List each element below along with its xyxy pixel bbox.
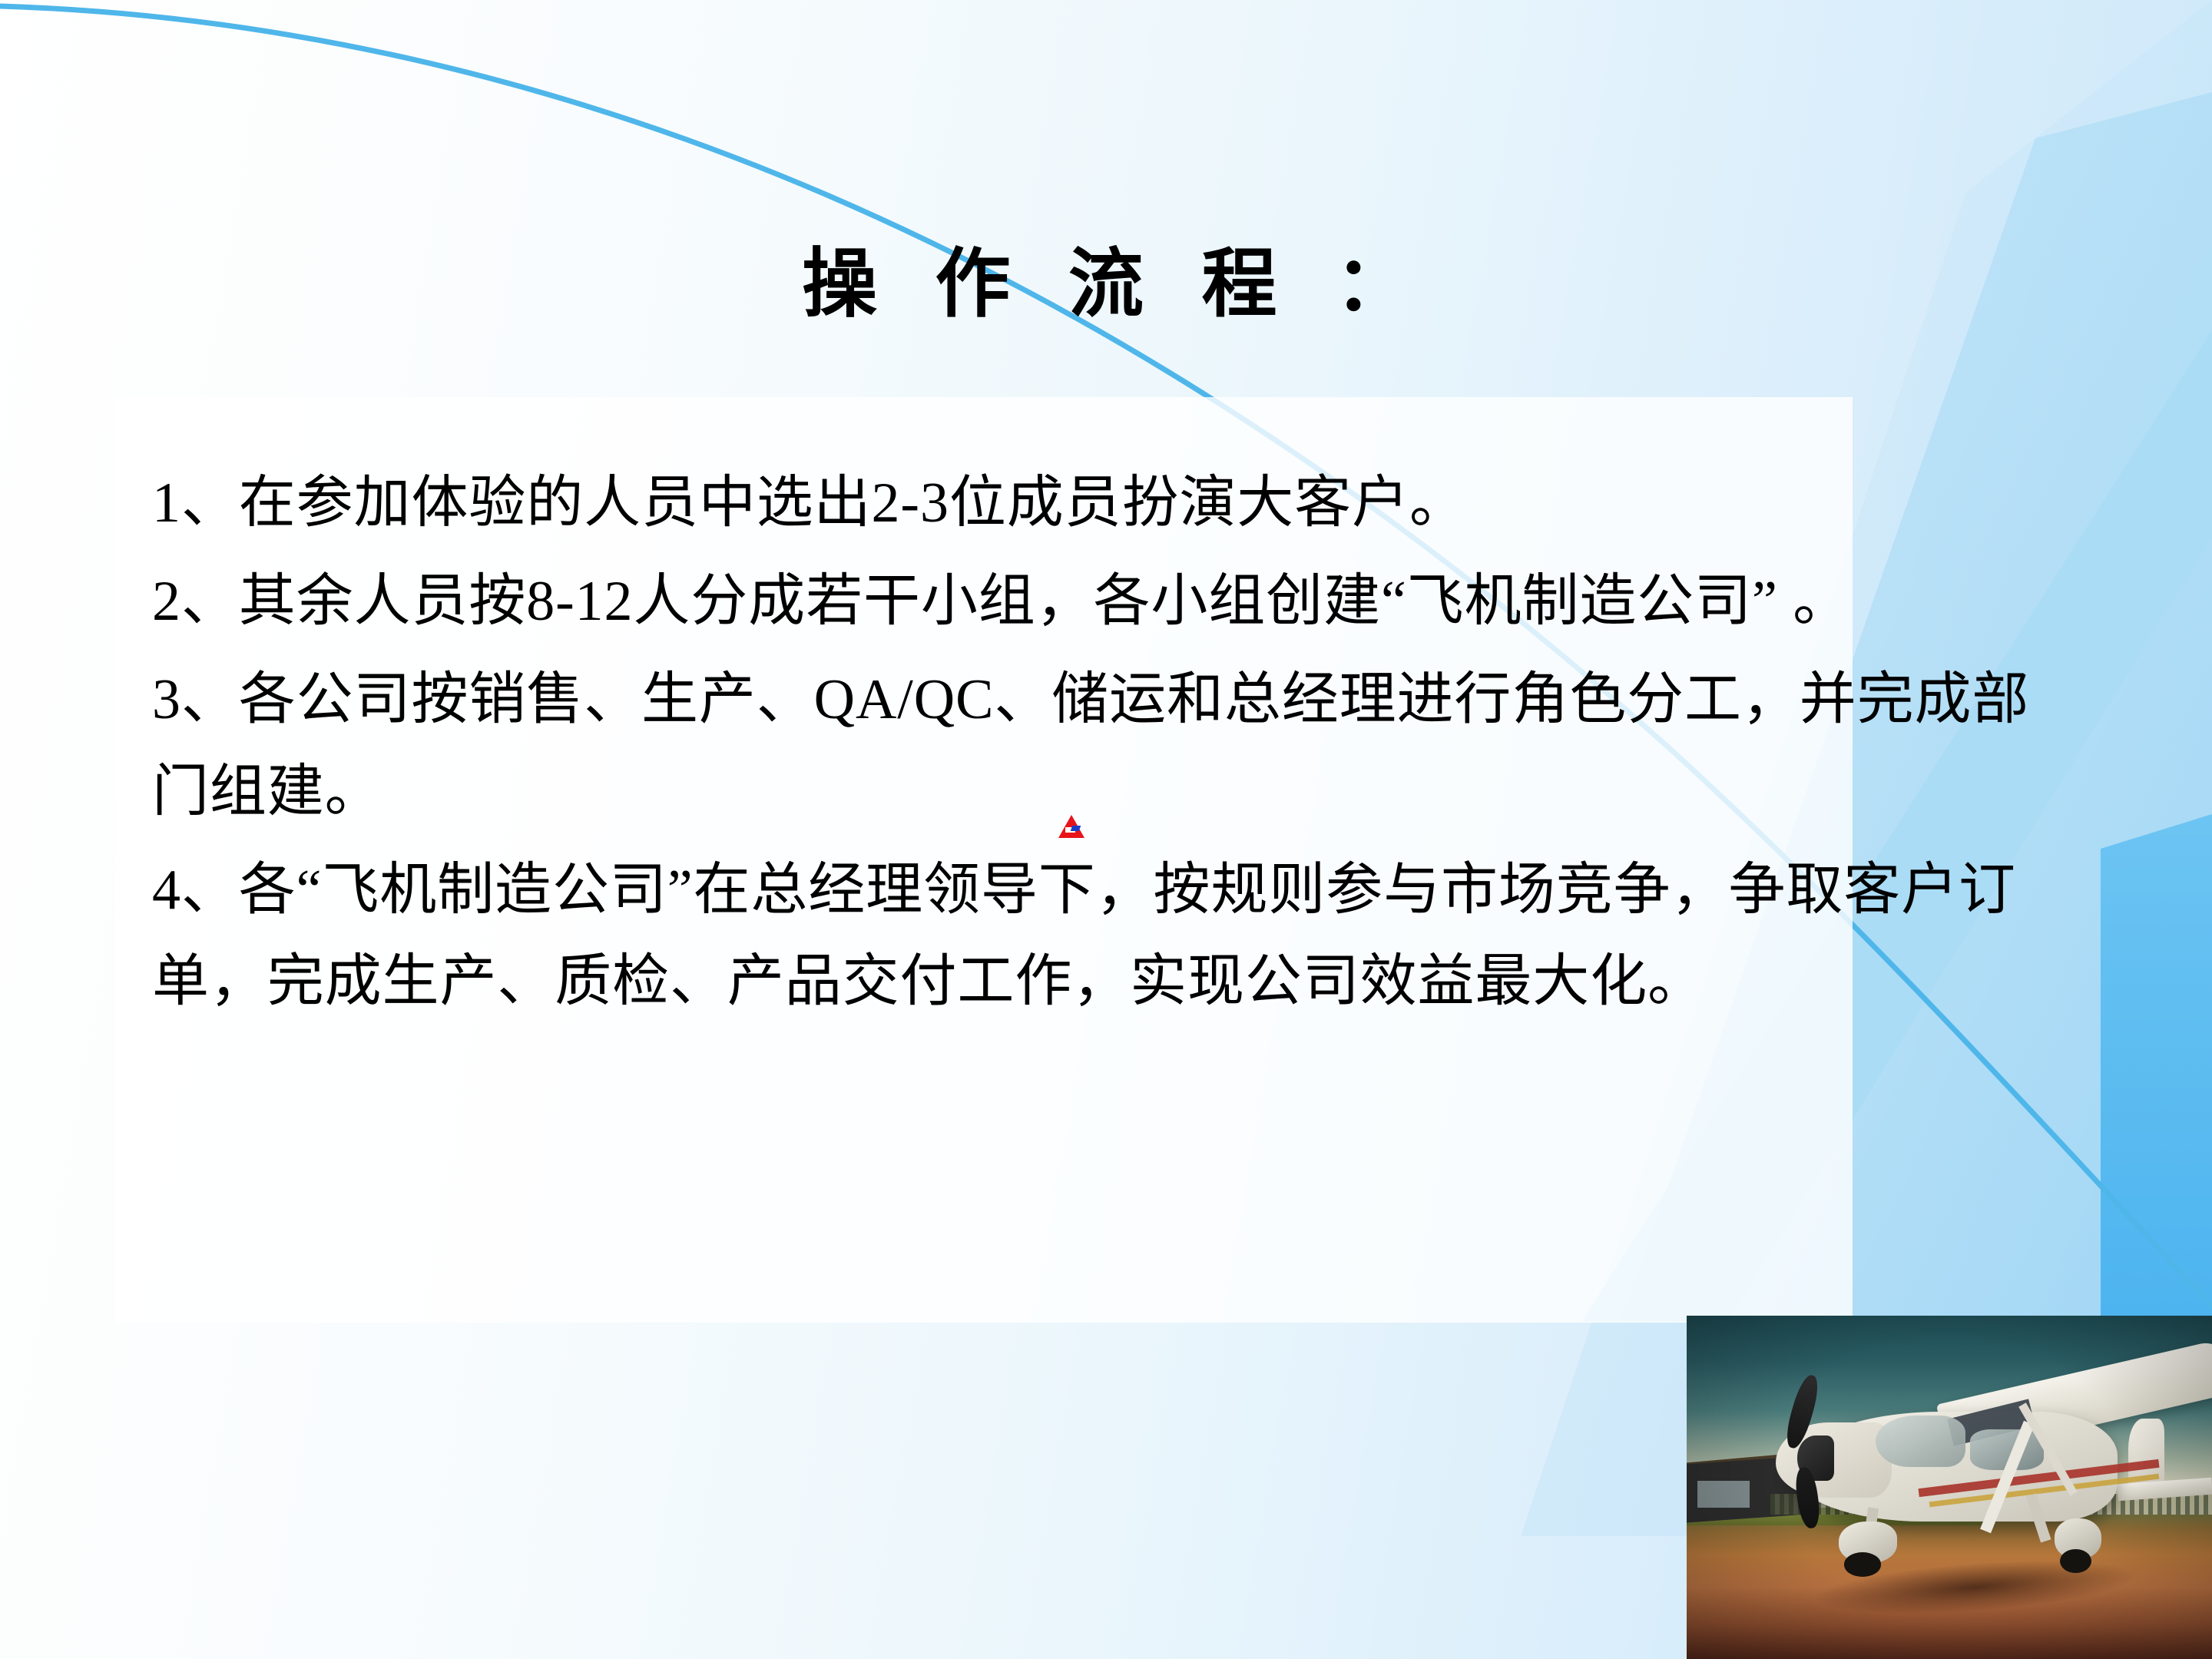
slide-title: 操 作 流 程 ：: [0, 223, 2212, 332]
airplane-photo: [1687, 1316, 2212, 1659]
body-text-block: 1、在参加体验的人员中选出2-3位成员扮演大客户。 2、其余人员按8-12人分成…: [152, 458, 2072, 1035]
body-paragraph-2: 2、其余人员按8-12人分成若干小组，各小组创建“飞机制造公司” 。: [152, 556, 2072, 648]
slide-canvas: 操 作 流 程 ： 1、在参加体验的人员中选出2-3位成员扮演大客户。 2、其余…: [0, 0, 2212, 1659]
photo-vignette: [1687, 1316, 2212, 1659]
body-paragraph-3: 3、各公司按销售、生产、QA/QC、储运和总经理进行角色分工，并完成部门组建。: [152, 654, 2072, 839]
right-accent-column: [2101, 814, 2212, 1321]
body-paragraph-1: 1、在参加体验的人员中选出2-3位成员扮演大客户。: [152, 458, 2072, 550]
proofing-triangle-icon: [1058, 815, 1084, 838]
body-paragraph-4: 4、各“飞机制造公司”在总经理领导下，按规则参与市场竞争，争取客户订单，完成生产…: [152, 845, 2072, 1029]
